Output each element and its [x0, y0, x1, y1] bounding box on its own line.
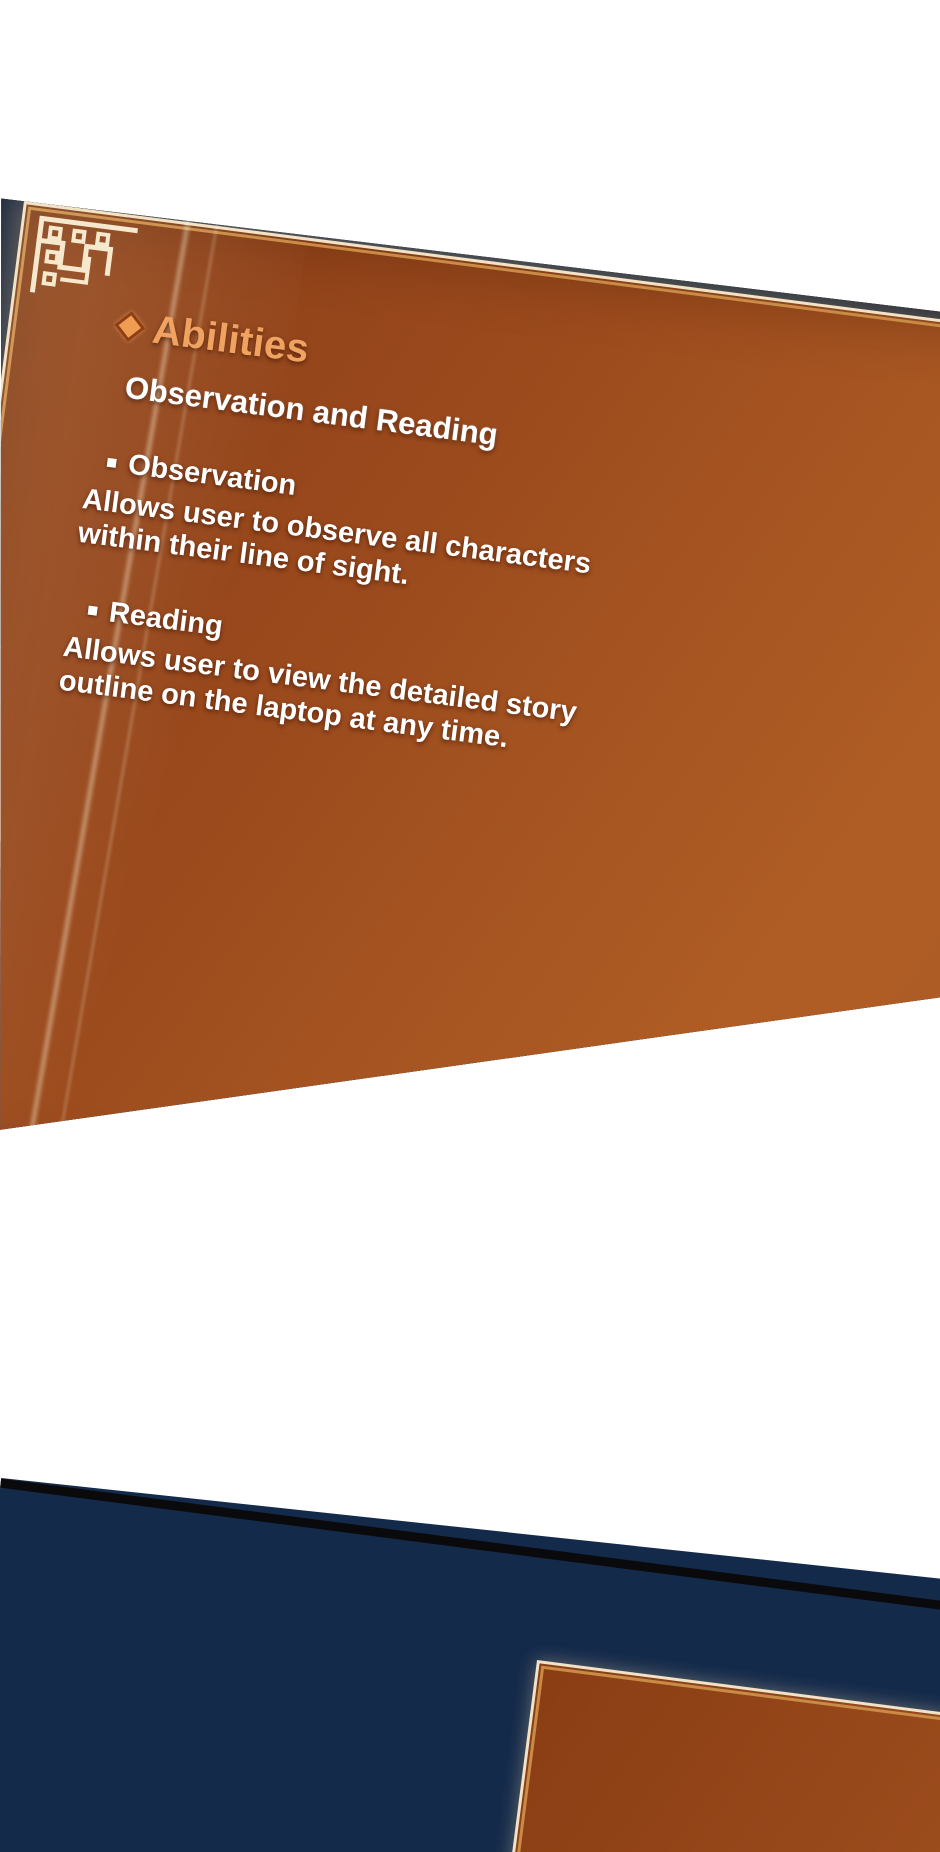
slide-photo-container: Abilities Observation and Reading Observ…: [0, 0, 940, 1180]
greek-key-corner-ornament: [26, 209, 146, 308]
slide-heading-label: Abilities: [150, 307, 312, 372]
square-bullet-icon: [88, 605, 98, 615]
presentation-slide-1[interactable]: Abilities Observation and Reading Observ…: [0, 150, 940, 1160]
slide-content-panel-wrapper: Abilities Observation and Reading Observ…: [0, 201, 940, 1181]
slide-content-panel[interactable]: Abilities Observation and Reading Observ…: [0, 201, 940, 1181]
ability-item: Reading Allows user to view the detailed…: [67, 592, 676, 775]
slide-text-block: Abilities Observation and Reading Observ…: [67, 302, 713, 775]
diamond-bullet-icon: [114, 311, 145, 342]
square-bullet-icon: [107, 457, 117, 467]
screen-bezel-bottom: [0, 1148, 940, 1180]
presentation-slide-2[interactable]: [0, 1452, 940, 1852]
ability-item: Observation Allows user to observe all c…: [86, 444, 695, 627]
ability-name: Reading: [107, 596, 225, 643]
